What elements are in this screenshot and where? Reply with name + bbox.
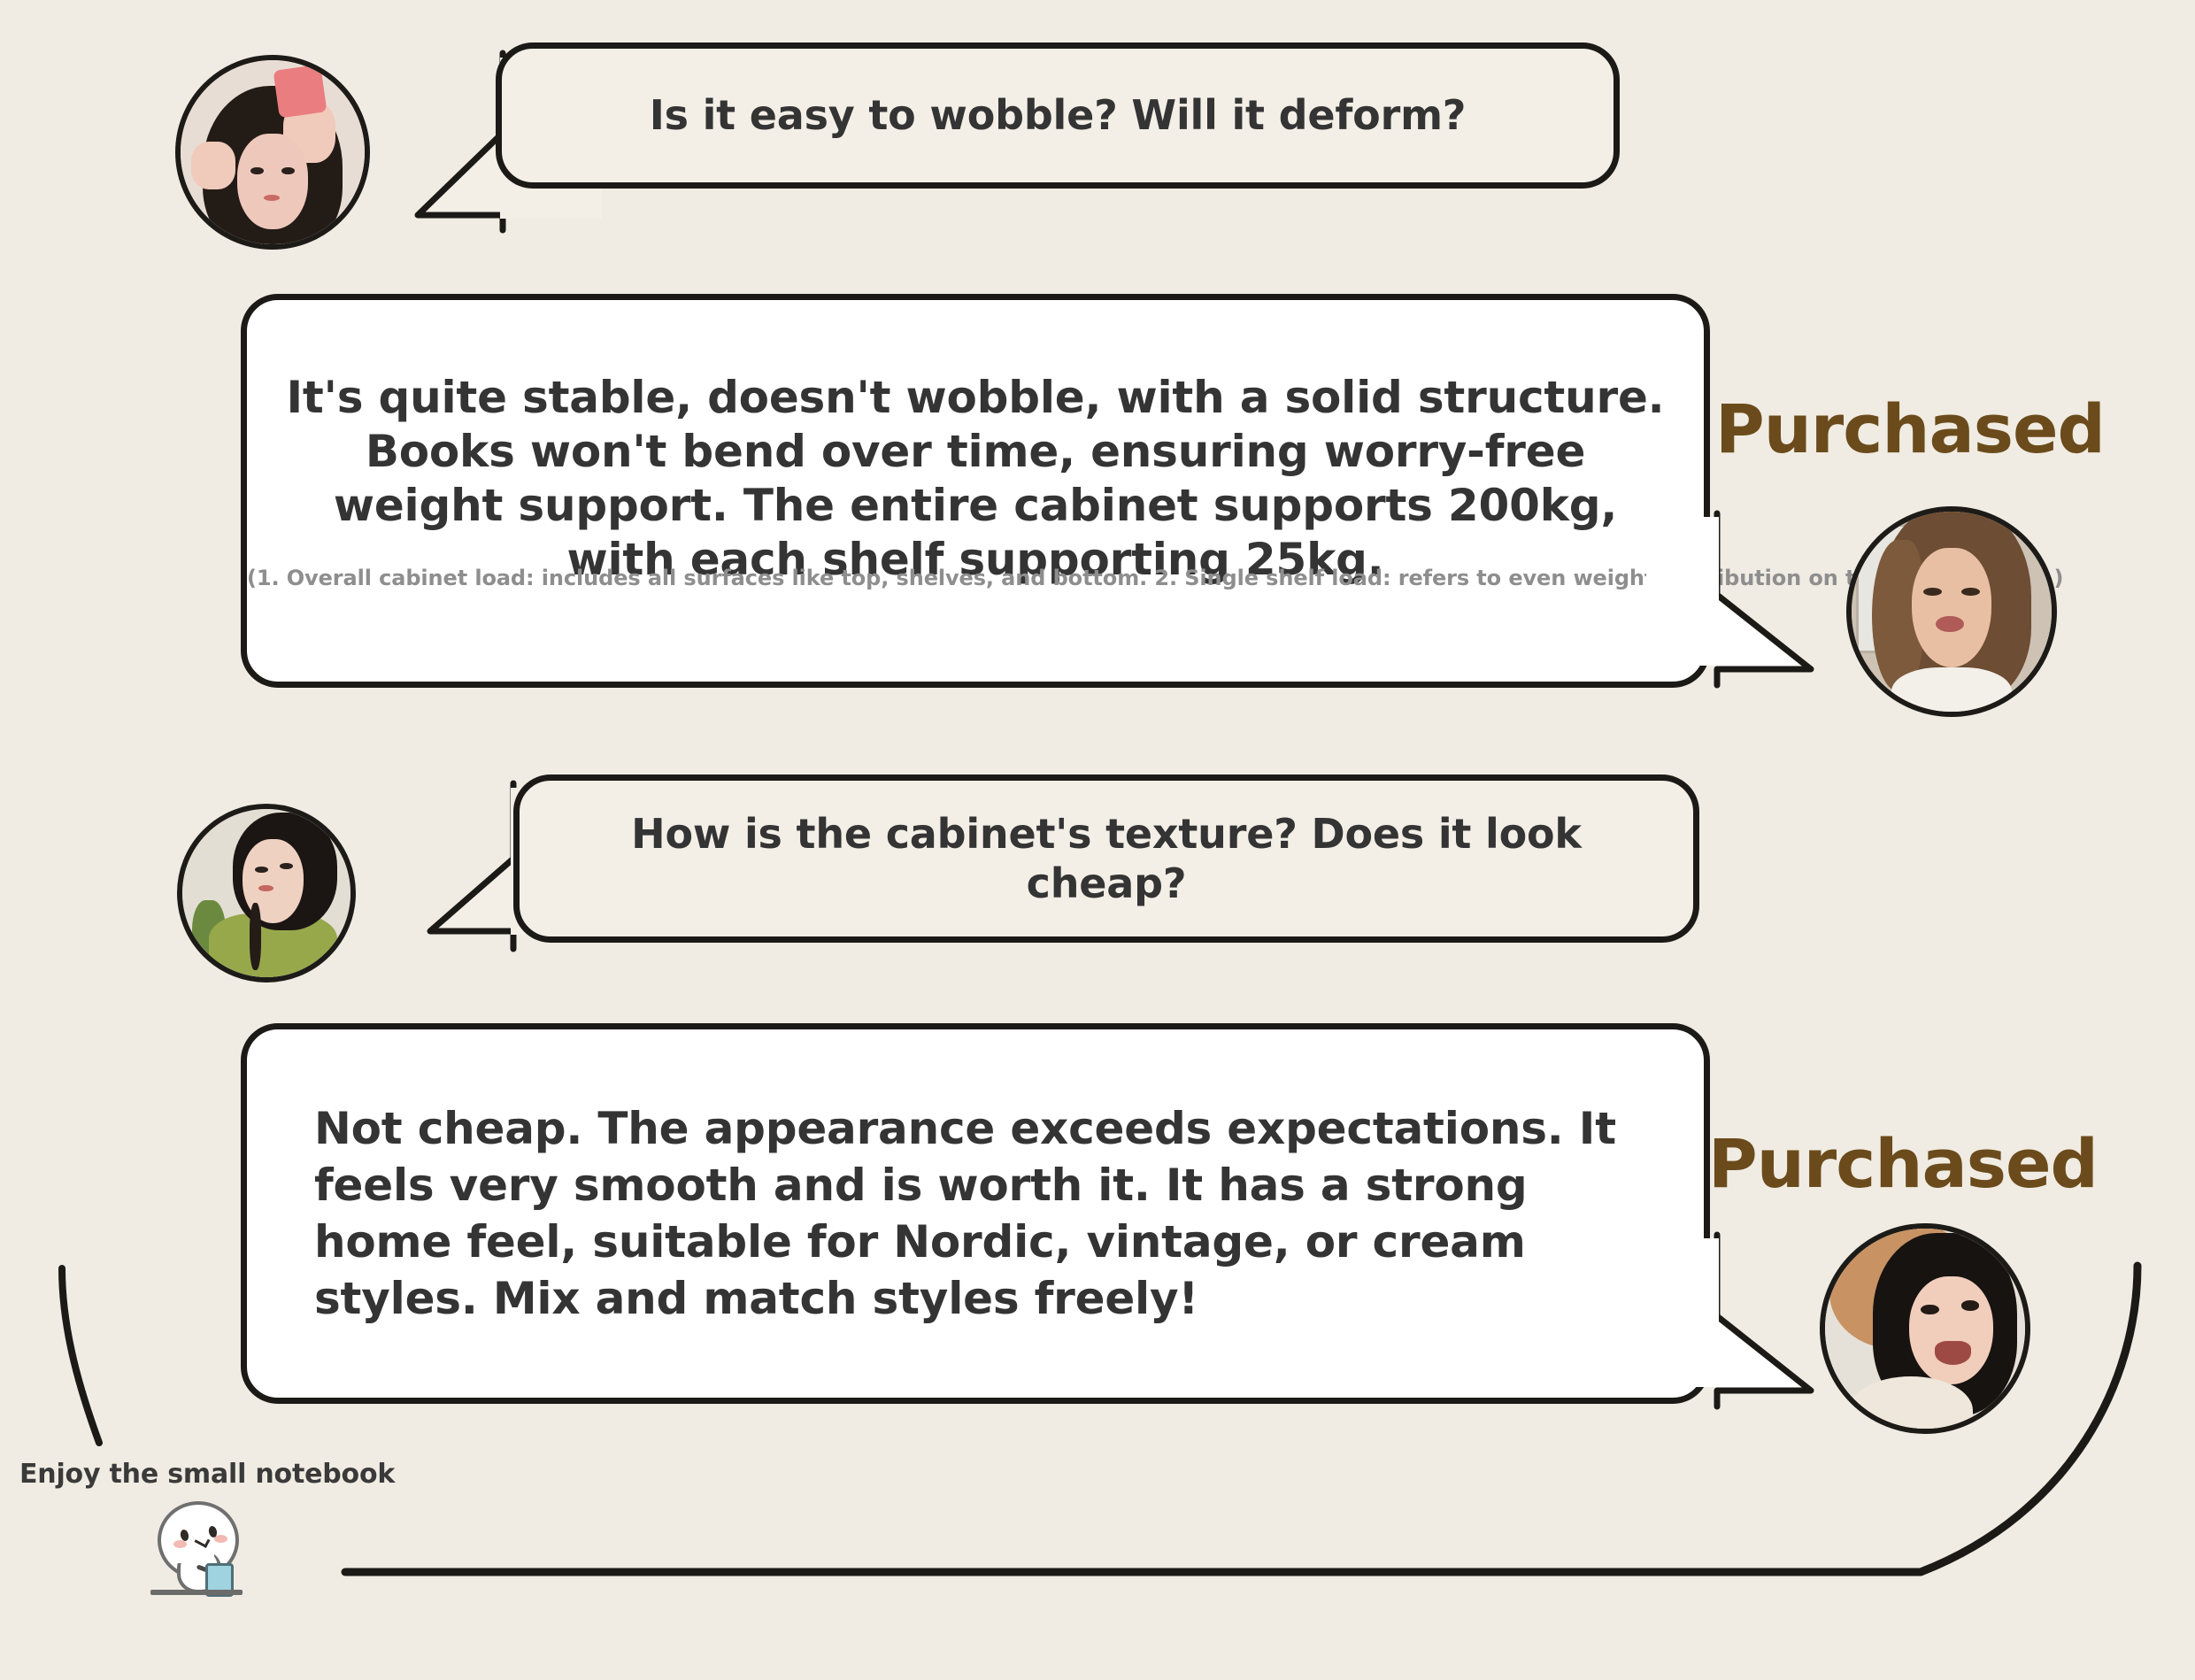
avatar-answer-1[interactable] [1846, 506, 2057, 717]
qa-card-canvas: Is it easy to wobble? Will it deform? It… [0, 0, 2195, 1680]
purchased-badge-2: Purchased [1708, 1124, 2098, 1203]
white-blob-mascot-icon [150, 1501, 243, 1599]
footer-label: Enjoy the small notebook [19, 1459, 395, 1490]
question-text-2: How is the cabinet's texture? Does it lo… [520, 809, 1693, 908]
avatar-question-1[interactable] [175, 55, 370, 250]
purchased-badge-1: Purchased [1715, 389, 2105, 468]
question-bubble-1: Is it easy to wobble? Will it deform? [496, 42, 1620, 189]
decorative-stroke-left [35, 1261, 142, 1456]
question-text-1: Is it easy to wobble? Will it deform? [502, 90, 1614, 140]
avatar-question-2[interactable] [177, 804, 356, 983]
avatar-image-2 [1852, 512, 2052, 712]
question-bubble-2: How is the cabinet's texture? Does it lo… [513, 774, 1699, 943]
answer-fineprint-1: (1. Overall cabinet load: includes all s… [247, 566, 1704, 591]
answer-text-1: It's quite stable, doesn't wobble, with … [247, 371, 1704, 587]
avatar-image-1 [181, 60, 365, 244]
answer-bubble-1: It's quite stable, doesn't wobble, with … [241, 294, 1710, 688]
decorative-stroke-right-baseline [336, 1248, 2142, 1602]
bubble-tail-answer-1 [1646, 496, 1859, 699]
avatar-image-3 [182, 809, 350, 977]
